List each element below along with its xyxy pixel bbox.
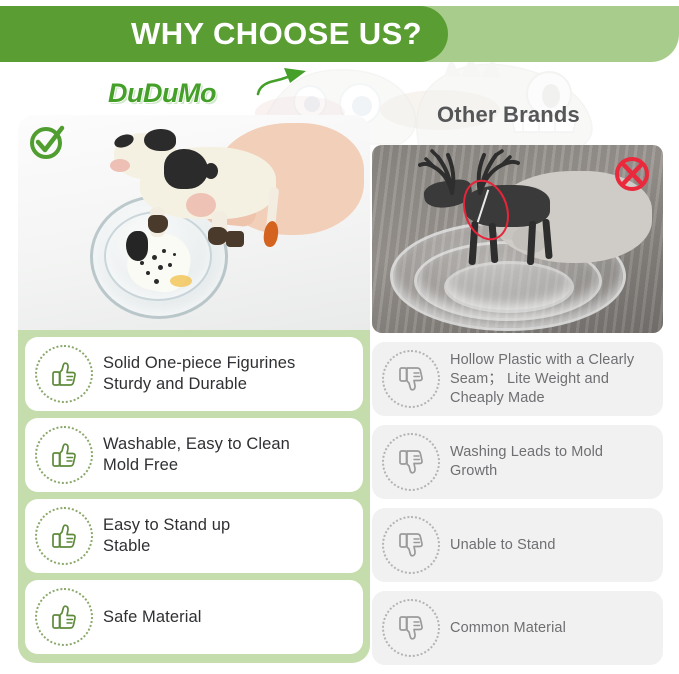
list-item[interactable]: Common Material <box>372 591 663 665</box>
thumbs-up-icon <box>35 507 93 565</box>
green-check-circle-icon <box>26 121 68 163</box>
dinosaur-watermark-right-icon <box>399 46 679 156</box>
cow-spot <box>162 249 166 253</box>
thumbs-up-icon <box>35 345 93 403</box>
cow-hoof <box>208 227 228 245</box>
thumbs-down-icon <box>382 350 440 408</box>
list-item[interactable]: Safe Material <box>25 580 363 654</box>
cow-head-patch <box>144 129 176 151</box>
cow-spot <box>173 253 176 256</box>
cow-body-patch <box>204 163 218 179</box>
list-item[interactable]: Easy to Stand up Stable <box>25 499 363 573</box>
thumbs-up-icon <box>35 426 93 484</box>
list-item-text: Solid One-piece Figurines Sturdy and Dur… <box>103 353 295 395</box>
list-item-text: Safe Material <box>103 607 202 628</box>
list-item-text: Common Material <box>450 619 566 638</box>
our-product-photo <box>18 115 370 330</box>
list-item[interactable]: Hollow Plastic with a Clearly Seam； Lite… <box>372 342 663 416</box>
brand-logo-text: DuDuMo <box>108 78 216 108</box>
list-item[interactable]: Washing Leads to Mold Growth <box>372 425 663 499</box>
our-brand-feature-list: Solid One-piece Figurines Sturdy and Dur… <box>18 330 370 663</box>
cow-hoof <box>226 231 244 247</box>
cow-body-patch <box>164 149 208 189</box>
thumbs-down-icon <box>382 516 440 574</box>
yolk-blob <box>170 275 192 287</box>
list-item[interactable]: Washable, Easy to Clean Mold Free <box>25 418 363 492</box>
list-item[interactable]: Unable to Stand <box>372 508 663 582</box>
list-item-text: Easy to Stand up Stable <box>103 515 230 557</box>
our-brand-column: Solid One-piece Figurines Sturdy and Dur… <box>18 115 370 663</box>
other-brands-column: Hollow Plastic with a Clearly Seam； Lite… <box>372 145 663 674</box>
other-brands-drawback-list: Hollow Plastic with a Clearly Seam； Lite… <box>372 333 663 674</box>
other-brands-heading: Other Brands <box>437 102 580 128</box>
cow-spot <box>140 261 144 265</box>
brand-logo: DuDuMo <box>108 76 308 114</box>
list-item-text: Washing Leads to Mold Growth <box>450 443 603 481</box>
red-x-circle-icon <box>611 153 653 195</box>
thumbs-up-icon <box>35 588 93 646</box>
swoosh-arrow-icon <box>254 66 310 102</box>
page-title: WHY CHOOSE US? <box>131 16 422 52</box>
list-item[interactable]: Solid One-piece Figurines Sturdy and Dur… <box>25 337 363 411</box>
header-banner: WHY CHOOSE US? <box>0 6 448 62</box>
cow-hoof <box>148 215 168 233</box>
cow-spot <box>168 263 172 267</box>
cow-patch-submerged <box>126 231 148 261</box>
cow-spot <box>146 271 150 275</box>
thumbs-down-icon <box>382 433 440 491</box>
list-item-text: Washable, Easy to Clean Mold Free <box>103 434 290 476</box>
cow-spot <box>154 279 159 284</box>
cow-muzzle <box>110 159 130 172</box>
cow-spot <box>152 255 157 260</box>
bowl-water-surface <box>444 261 574 313</box>
cow-udder <box>186 193 216 217</box>
thumbs-down-icon <box>382 599 440 657</box>
other-brand-photo <box>372 145 663 333</box>
cow-spot <box>158 265 163 270</box>
list-item-text: Unable to Stand <box>450 536 556 555</box>
list-item-text: Hollow Plastic with a Clearly Seam； Lite… <box>450 351 634 408</box>
